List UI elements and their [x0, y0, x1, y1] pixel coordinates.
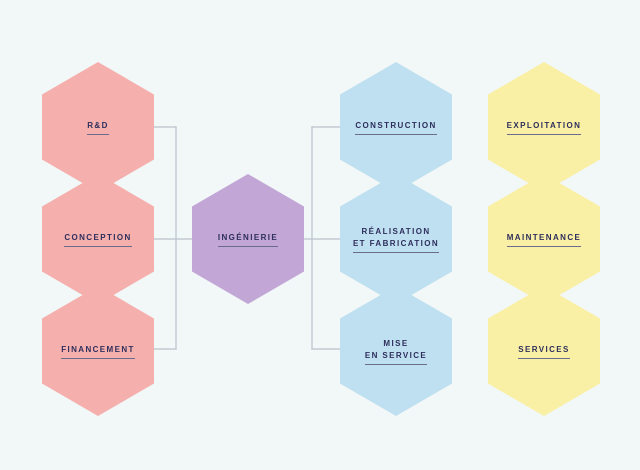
hex-node-exploitation[interactable]: EXPLOITATION: [488, 62, 600, 192]
hex-label-exploitation: EXPLOITATION: [507, 120, 582, 135]
hex-node-construction[interactable]: CONSTRUCTION: [340, 62, 452, 192]
hex-node-services[interactable]: SERVICES: [488, 286, 600, 416]
hex-label-services: SERVICES: [518, 344, 570, 359]
hex-label-construction: CONSTRUCTION: [355, 120, 436, 135]
hex-label-rd: R&D: [87, 120, 109, 135]
hex-node-rd[interactable]: R&D: [42, 62, 154, 192]
hexagon-layer: R&D CONCEPTION FINANCEMENT INGÉNIERIE CO…: [0, 0, 640, 470]
hex-label-ingenierie: INGÉNIERIE: [218, 232, 278, 247]
hex-node-realisation[interactable]: RÉALISATION ET FABRICATION: [340, 174, 452, 304]
hex-node-conception[interactable]: CONCEPTION: [42, 174, 154, 304]
hexagon-process-diagram: R&D CONCEPTION FINANCEMENT INGÉNIERIE CO…: [0, 0, 640, 470]
hex-label-mise-en-service: MISE EN SERVICE: [365, 338, 427, 365]
hex-label-conception: CONCEPTION: [64, 232, 131, 247]
hex-node-ingenierie[interactable]: INGÉNIERIE: [192, 174, 304, 304]
hex-node-maintenance[interactable]: MAINTENANCE: [488, 174, 600, 304]
hex-node-financement[interactable]: FINANCEMENT: [42, 286, 154, 416]
hex-label-financement: FINANCEMENT: [61, 344, 135, 359]
hex-label-realisation: RÉALISATION ET FABRICATION: [353, 226, 439, 253]
hex-label-maintenance: MAINTENANCE: [507, 232, 582, 247]
hex-node-mise-en-service[interactable]: MISE EN SERVICE: [340, 286, 452, 416]
